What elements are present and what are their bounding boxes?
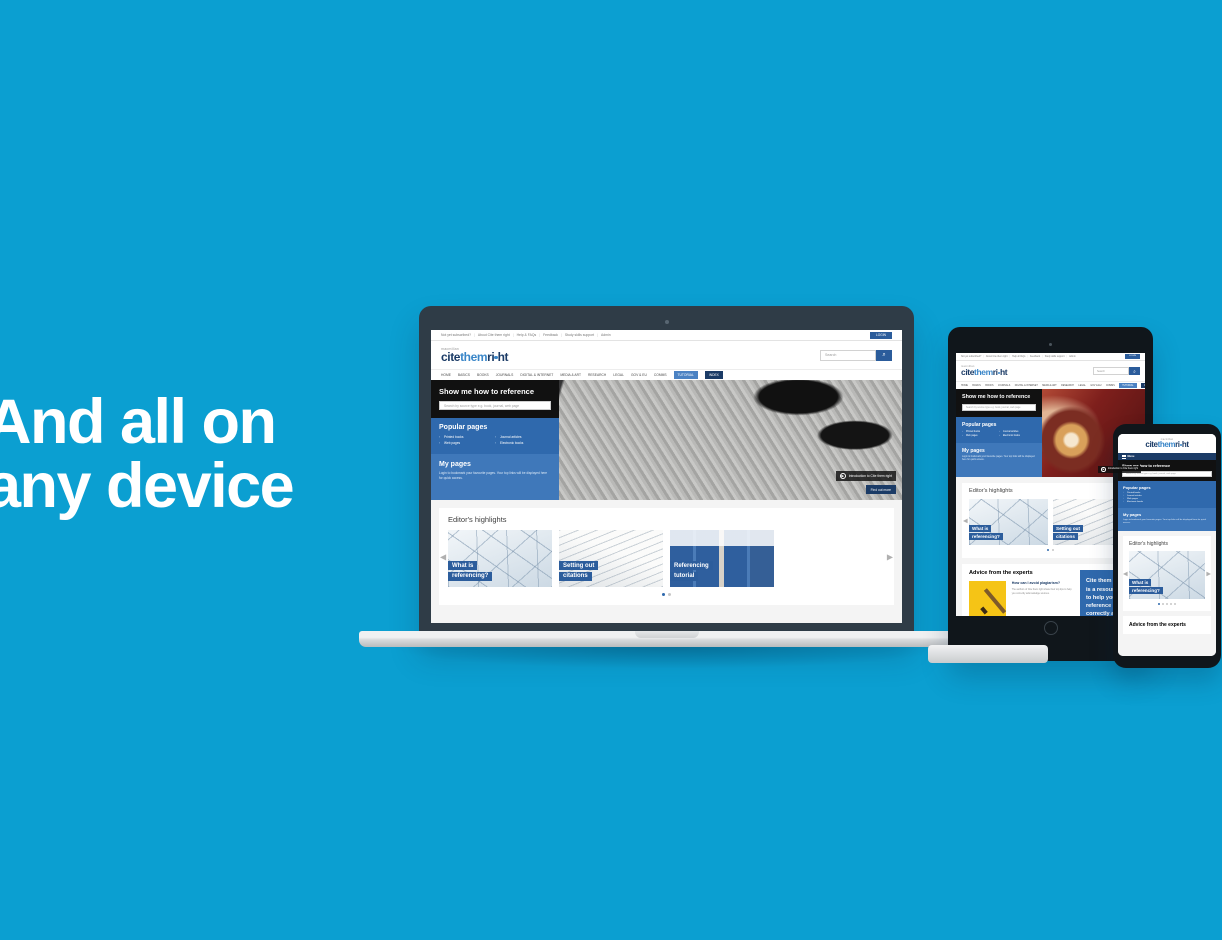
nav-item-books[interactable]: BOOKS	[985, 385, 993, 387]
logo-part-ri: ri	[487, 350, 494, 364]
video-label: Introduction to Cite them right	[1108, 468, 1138, 470]
my-pages-block: My pages Login to bookmark your favourit…	[431, 454, 559, 500]
nav-item-home[interactable]: HOME	[961, 385, 968, 387]
popular-pages-list: Printed books Journal articles Web pages…	[1123, 492, 1211, 504]
my-pages-title: My pages	[1123, 512, 1211, 517]
video-tag[interactable]: ▶ Introduction to Cite them right	[1098, 466, 1141, 474]
my-pages-title: My pages	[439, 461, 551, 468]
highlight-card[interactable]: Setting out citations	[559, 530, 663, 587]
webcam-icon	[665, 320, 669, 324]
chevron-left-icon[interactable]: ◀	[963, 517, 968, 524]
list-item[interactable]: Printed books	[962, 431, 999, 433]
highlights-carousel: What is referencing?	[1129, 551, 1205, 599]
card-label-line1: What is	[969, 525, 991, 532]
card-label-line2: tutorial	[670, 572, 698, 581]
hero-reference-block: Show me how to reference Search by sourc…	[431, 380, 559, 418]
logo-part-ht: ht	[1182, 440, 1189, 449]
nav-item-home[interactable]: HOME	[441, 373, 451, 377]
carousel-dot[interactable]	[1174, 603, 1176, 605]
chevron-right-icon[interactable]: ▶	[887, 552, 893, 561]
website-desktop: Not yet subscribed? | About Cite them ri…	[431, 330, 902, 623]
editors-highlights-panel: Editor's highlights What is referencing?	[1123, 536, 1211, 611]
nav-item-basics[interactable]: BASICS	[972, 385, 980, 387]
list-item[interactable]: Web pages	[439, 441, 495, 445]
list-item[interactable]: Printed books	[1123, 492, 1211, 494]
list-item[interactable]: Web pages	[962, 435, 999, 437]
headline-line-2: any device	[0, 454, 386, 518]
popular-pages-block: Popular pages Printed books Journal arti…	[431, 418, 559, 454]
menu-label: Menu	[1128, 455, 1135, 458]
logo-part-cite: cite	[1145, 440, 1157, 449]
popular-pages-title: Popular pages	[962, 422, 1036, 428]
my-pages-text: Login to bookmark your favourite pages. …	[962, 456, 1036, 463]
separator: |	[561, 333, 562, 337]
my-pages-title: My pages	[962, 448, 1036, 454]
utility-bar: Not yet subscribed? | About Cite them ri…	[431, 330, 902, 341]
my-pages-block: My pages Login to bookmark your favourit…	[1118, 508, 1216, 531]
section-title: Advice from the experts	[969, 570, 1074, 576]
separator: |	[597, 333, 598, 337]
laptop-device: Not yet subscribed? | About Cite them ri…	[419, 306, 914, 639]
carousel-dots	[1129, 603, 1205, 605]
card-label-line2: citations	[1053, 533, 1078, 540]
laptop-notch	[635, 631, 699, 638]
popular-pages-title: Popular pages	[439, 424, 551, 431]
nav-item-comms[interactable]: COMMS	[654, 373, 667, 377]
tablet-stand	[928, 645, 1048, 663]
popular-pages-block: Popular pages Printed books Journal arti…	[956, 417, 1042, 443]
card-label-line2: referencing?	[1129, 587, 1163, 594]
card-label: What is referencing?	[969, 525, 1003, 541]
list-item[interactable]: Electronic books	[495, 441, 551, 445]
logo-part-ht: ht	[498, 350, 509, 364]
logo[interactable]: macmillan citethemriht	[961, 365, 1007, 377]
highlight-card[interactable]: What is referencing?	[448, 530, 552, 587]
separator: |	[1010, 356, 1011, 358]
search-icon[interactable]: ⌕	[1129, 367, 1140, 375]
hero-reference-block: Show me how to reference Search by sourc…	[956, 389, 1042, 417]
highlights-carousel: What is referencing? Setting out citatio…	[969, 499, 1132, 545]
list-item[interactable]: Journal articles	[1123, 495, 1211, 497]
nav-item-digital-internet[interactable]: DIGITAL & INTERNET	[520, 373, 553, 377]
carousel-dot[interactable]	[1170, 603, 1172, 605]
utility-link-admin[interactable]: Admin	[1069, 356, 1076, 358]
utility-link-study-skills[interactable]: Study skills support	[1045, 356, 1065, 358]
hamburger-icon	[1122, 455, 1126, 458]
utility-link-about[interactable]: About Cite them right	[478, 333, 510, 337]
my-pages-block: My pages Login to bookmark your favourit…	[956, 443, 1042, 477]
card-label-line1: Setting out	[559, 561, 598, 570]
chevron-left-icon[interactable]: ◀	[440, 552, 446, 561]
logo-wordmark: citethemriht	[961, 368, 1007, 377]
advice-item-text: The authors of Cite them right share the…	[1012, 588, 1074, 595]
advice-body: How can I avoid plagiarism? The authors …	[1012, 581, 1074, 616]
list-item[interactable]: Web pages	[1123, 498, 1211, 500]
page-headline: And all on any device	[0, 390, 386, 519]
carousel-dot[interactable]	[668, 593, 671, 596]
nav-item-media-art[interactable]: MEDIA & ART	[1042, 385, 1056, 387]
search-area: Search ⌕	[1093, 367, 1140, 375]
nav-item-index[interactable]: INDEX	[705, 371, 723, 379]
utility-link-subscribe[interactable]: Not yet subscribed?	[441, 333, 471, 337]
card-label: Referencing tutorial	[670, 561, 713, 582]
nav-item-tutorial[interactable]: TUTORIAL	[674, 371, 698, 379]
home-button[interactable]	[1044, 621, 1058, 635]
my-pages-text: Login to bookmark your favourite pages. …	[439, 471, 551, 481]
nav-item-gov-eu[interactable]: GOV & EU	[631, 373, 647, 377]
phone-device: macmillan citethemriht Menu Show me how …	[1113, 424, 1221, 668]
carousel-dots	[969, 549, 1132, 551]
headline-line-1: And all on	[0, 390, 386, 454]
carousel-dot[interactable]	[662, 593, 665, 596]
utility-link-help[interactable]: Help & FAQs	[517, 333, 537, 337]
utility-link-subscribe[interactable]: Not yet subscribed?	[961, 356, 981, 358]
popular-pages-title: Popular pages	[1123, 485, 1211, 490]
list-item[interactable]: Journal articles	[495, 435, 551, 439]
highlights-carousel: What is referencing? Setting out citatio…	[448, 530, 885, 587]
video-label: Introduction to Cite them right	[849, 474, 892, 478]
carousel-dot[interactable]	[1158, 603, 1160, 605]
utility-link-feedback[interactable]: Feedback	[543, 333, 558, 337]
utility-links: Not yet subscribed? | About Cite them ri…	[961, 356, 1125, 358]
highlight-card[interactable]: What is referencing?	[969, 499, 1048, 545]
utility-link-study-skills[interactable]: Study skills support	[565, 333, 594, 337]
nav-item-tutorial[interactable]: TUTORIAL	[1119, 383, 1136, 388]
section-title: Editor's highlights	[969, 488, 1132, 494]
hero-search-input[interactable]: Search by source type e.g. book, journal…	[962, 404, 1036, 411]
editors-highlights-panel: Editor's highlights What is referencing?…	[439, 508, 894, 605]
webcam-icon	[1049, 343, 1052, 346]
section-title: Advice from the experts	[1129, 622, 1186, 628]
list-item[interactable]: Printed books	[439, 435, 495, 439]
highlight-card[interactable]: Referencing tutorial	[670, 530, 774, 587]
list-item[interactable]: Electronic books	[999, 435, 1036, 437]
find-out-more-button[interactable]: Find out more	[866, 485, 896, 494]
carousel-dot[interactable]	[1052, 549, 1054, 551]
separator: |	[1027, 356, 1028, 358]
card-label: Setting out citations	[1053, 525, 1083, 541]
chevron-left-icon[interactable]: ◀	[1123, 570, 1128, 577]
main-navigation: HOME BASICS BOOKS JOURNALS DIGITAL & INT…	[431, 369, 902, 380]
separator: |	[539, 333, 540, 337]
phone-body: macmillan citethemriht Menu Show me how …	[1113, 424, 1221, 668]
hero-section: Show me how to reference Search by sourc…	[431, 380, 902, 500]
hero-search-input[interactable]: Search by source type e.g. book, journal…	[439, 401, 551, 410]
utility-links: Not yet subscribed? | About Cite them ri…	[441, 333, 870, 337]
logo-part-them: them	[974, 367, 993, 377]
hero-title: Show me how to reference	[962, 394, 1036, 400]
nav-item-books[interactable]: BOOKS	[477, 373, 489, 377]
nav-item-basics[interactable]: BASICS	[458, 373, 470, 377]
advice-thumbnail[interactable]	[969, 581, 1006, 616]
hero-panel: Show me how to reference Search by sourc…	[431, 380, 559, 500]
brand-row: macmillan citethemriht Search ⌕	[431, 341, 902, 369]
list-item[interactable]: Journal articles	[999, 431, 1036, 433]
separator: |	[1067, 356, 1068, 358]
utility-link-admin[interactable]: Admin	[601, 333, 611, 337]
logo-wordmark: citethemriht	[441, 351, 508, 363]
logo-part-cite: cite	[961, 367, 974, 377]
laptop-screen: Not yet subscribed? | About Cite them ri…	[431, 330, 902, 623]
logo-part-them: them	[460, 350, 487, 364]
utility-link-about[interactable]: About Cite them right	[986, 356, 1008, 358]
logo-part-ri: ri	[993, 367, 998, 377]
section-title: Editor's highlights	[448, 515, 885, 524]
list-item[interactable]: Electronic books	[1123, 501, 1211, 503]
utility-bar: Not yet subscribed? | About Cite them ri…	[956, 353, 1145, 361]
nav-item-journals[interactable]: JOURNALS	[998, 385, 1010, 387]
logo-part-them: them	[1158, 440, 1176, 449]
main-navigation: HOME BASICS BOOKS JOURNALS DIGITAL & INT…	[956, 381, 1145, 389]
hero-panel: Show me how to reference Search by sourc…	[956, 389, 1042, 477]
card-label-line2: referencing?	[448, 572, 492, 581]
highlight-card[interactable]: What is referencing?	[1129, 551, 1205, 599]
hero-title: Show me how to reference	[439, 387, 551, 396]
search-input[interactable]: Search	[1093, 367, 1129, 375]
search-icon[interactable]: ⌕	[876, 350, 892, 361]
card-label: What is referencing?	[448, 561, 492, 582]
logo-part-cite: cite	[441, 350, 460, 364]
nav-item-media-art[interactable]: MEDIA & ART	[560, 373, 581, 377]
nav-item-gov-eu[interactable]: GOV & EU	[1090, 385, 1101, 387]
my-pages-text: Login to bookmark your favourite pages. …	[1123, 519, 1211, 526]
card-label-line1: What is	[448, 561, 477, 570]
advice-panel: Advice from the experts	[1123, 616, 1211, 634]
video-tag[interactable]: ▶ Introduction to Cite them right	[836, 471, 896, 481]
carousel-dot[interactable]	[1047, 549, 1049, 551]
logo-wordmark: citethemriht	[1145, 441, 1188, 449]
laptop-lid: Not yet subscribed? | About Cite them ri…	[419, 306, 914, 639]
nav-item-index[interactable]: INDEX	[1141, 383, 1145, 388]
nav-item-research[interactable]: RESEARCH	[1061, 385, 1074, 387]
logo[interactable]: macmillan citethemriht	[441, 347, 508, 363]
logo-part-ht: ht	[1000, 367, 1007, 377]
carousel-dots	[448, 593, 885, 596]
popular-pages-list: Printed books Journal articles Web pages…	[439, 435, 551, 447]
pencil-tip-icon	[980, 607, 988, 615]
popular-pages-block: Popular pages Printed books Journal arti…	[1118, 481, 1216, 508]
card-label: What is referencing?	[1129, 579, 1163, 595]
logo-part-ri: ri	[1175, 440, 1180, 449]
nav-item-legal[interactable]: LEGAL	[1078, 385, 1085, 387]
separator: |	[983, 356, 984, 358]
chevron-right-icon[interactable]: ▶	[1206, 570, 1211, 577]
nav-item-digital-internet[interactable]: DIGITAL & INTERNET	[1015, 385, 1038, 387]
carousel-dot[interactable]	[1162, 603, 1164, 605]
nav-item-journals[interactable]: JOURNALS	[496, 373, 514, 377]
login-button[interactable]: LOGIN	[870, 332, 892, 339]
brand-row: macmillan citethemriht	[1118, 434, 1216, 453]
mobile-menu-bar[interactable]: Menu	[1118, 453, 1216, 460]
search-area: Search ⌕	[820, 350, 892, 361]
card-label-line1: Setting out	[1053, 525, 1083, 532]
card-label-line2: citations	[559, 572, 592, 581]
card-label-line2: referencing?	[969, 533, 1003, 540]
phone-notch	[1146, 424, 1188, 432]
play-icon: ▶	[1101, 467, 1106, 472]
nav-item-comms[interactable]: COMMS	[1106, 385, 1115, 387]
separator: |	[1042, 356, 1043, 358]
nav-item-research[interactable]: RESEARCH	[588, 373, 606, 377]
utility-link-help[interactable]: Help & FAQs	[1012, 356, 1025, 358]
brand-row: macmillan citethemriht Search ⌕	[956, 361, 1145, 381]
laptop-shadow	[389, 647, 949, 669]
card-label-line1: What is	[1129, 579, 1151, 586]
utility-link-feedback[interactable]: Feedback	[1030, 356, 1040, 358]
popular-pages-list: Printed books Journal articles Web pages…	[962, 431, 1036, 438]
separator: |	[474, 333, 475, 337]
login-button[interactable]: LOGIN	[1125, 354, 1140, 359]
play-icon: ▶	[840, 473, 846, 479]
section-title: Editor's highlights	[1129, 541, 1205, 547]
nav-item-legal[interactable]: LEGAL	[613, 373, 624, 377]
card-label-line1: Referencing	[670, 561, 713, 570]
card-label: Setting out citations	[559, 561, 598, 582]
advice-item-title[interactable]: How can I avoid plagiarism?	[1012, 581, 1074, 585]
separator: |	[513, 333, 514, 337]
carousel-dot[interactable]	[1166, 603, 1168, 605]
search-input[interactable]: Search	[820, 350, 876, 361]
laptop-base	[359, 631, 974, 647]
